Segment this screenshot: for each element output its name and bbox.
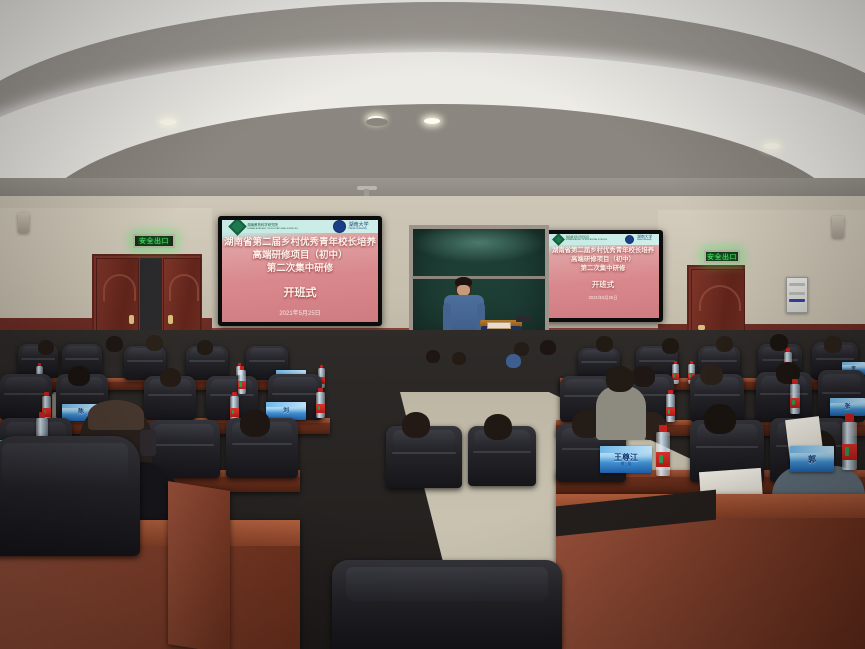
attendee-body — [596, 386, 646, 440]
conference-chair[interactable] — [0, 436, 140, 556]
attendee-head — [506, 354, 521, 368]
av-control-panel[interactable] — [786, 277, 808, 313]
attendee-head — [68, 366, 90, 386]
attendee-head — [402, 412, 430, 438]
institute-logo-text-en: HUNAN ACADEMY OF EDUCATIONAL SCIENCES — [247, 227, 297, 231]
attendee-head — [700, 364, 723, 385]
attendee-head — [197, 340, 213, 355]
attendee-head — [606, 366, 634, 392]
attendee-head — [484, 414, 512, 440]
laptop-icon[interactable] — [516, 316, 532, 322]
slide-title-line2: 高端研修项目（初中） — [547, 256, 659, 265]
slide-heading: 开班式 — [547, 279, 659, 290]
wall-speaker — [832, 216, 844, 238]
slide-title-line2: 高端研修项目（初中） — [222, 249, 378, 262]
water-bottle — [238, 370, 246, 394]
attendee-head — [160, 368, 181, 387]
downlight-icon — [764, 143, 780, 149]
attendee-head — [240, 410, 270, 437]
podium-nameplate — [487, 322, 511, 329]
secondary-projection-screen[interactable]: 湖南教育科学研究院 HUNAN ACADEMY OF EDUCATIONAL S… — [543, 230, 663, 322]
water-bottle — [790, 384, 800, 414]
chalkboard-glare — [412, 229, 546, 263]
slide-title-line1: 湖南省第二届乡村优秀青年校长培养 — [547, 247, 659, 256]
name-placard: 张 — [830, 398, 865, 416]
mobile-phone-icon — [140, 430, 156, 456]
placard-subtitle: 第二组 — [621, 462, 632, 466]
attendee-head — [662, 338, 679, 354]
attendee-head — [824, 336, 842, 353]
slide-title-line3: 第二次集中研修 — [547, 265, 659, 274]
speaker-head — [455, 277, 472, 297]
attendee-hair — [88, 400, 144, 430]
downlight-icon — [160, 119, 176, 125]
institute-logo: 湖南教育科学研究院 HUNAN ACADEMY OF EDUCATIONAL S… — [231, 220, 297, 233]
ceiling-vent-icon — [366, 118, 388, 126]
institute-logo: 湖南教育科学研究院 HUNAN ACADEMY OF EDUCATIONAL S… — [554, 235, 607, 244]
slide-title-line3: 第二次集中研修 — [222, 262, 378, 275]
water-bottle — [666, 394, 675, 422]
university-logo-text-en: Hunan University — [637, 239, 652, 242]
main-projection-screen[interactable]: 湖南教育科学研究院 HUNAN ACADEMY OF EDUCATIONAL S… — [218, 216, 382, 326]
water-bottle — [842, 422, 857, 470]
attendee-head — [146, 335, 163, 351]
water-bottle — [656, 432, 670, 476]
attendee-head — [632, 366, 655, 387]
hunan-normal-university-seal: 湖南大学 Hunan University — [625, 235, 652, 244]
water-bottle — [316, 392, 325, 418]
slide-heading: 开班式 — [222, 284, 378, 300]
name-placard: 王尊江 第二组 — [600, 446, 652, 473]
lecture-hall-photo: EPSON 安全出口 安全出口 — [0, 0, 865, 649]
attendee-head — [452, 352, 466, 365]
attendee-head — [426, 350, 440, 363]
attendee-head — [704, 404, 736, 434]
hunan-normal-university-seal: 湖南大学 Hunan University — [333, 220, 369, 233]
attendee-head — [540, 340, 556, 355]
slide-title-line1: 湖南省第二届乡村优秀青年校长培养 — [222, 236, 378, 249]
university-logo-text-en: Hunan University — [349, 227, 369, 231]
name-placard: 郭 — [790, 446, 834, 472]
wall-speaker — [18, 213, 29, 233]
institute-logo-text-en: HUNAN ACADEMY OF EDUCATIONAL SCIENCES — [566, 239, 607, 242]
slide-date: 2021年5月25日 — [547, 295, 659, 301]
attendee-head — [106, 336, 123, 352]
attendee-head — [38, 340, 54, 355]
attendee-head — [596, 336, 613, 352]
slide-date: 2021年5月25日 — [222, 308, 378, 317]
desk-end-panel — [168, 481, 230, 649]
conference-chair[interactable] — [332, 560, 562, 649]
chalkboard-divider — [412, 276, 546, 279]
placard-name: 郭 — [808, 455, 816, 464]
exit-sign-right: 安全出口 — [704, 250, 740, 263]
attendee-head — [716, 336, 733, 352]
placard-name: 王尊江 — [614, 453, 638, 462]
exit-sign-left: 安全出口 — [133, 234, 175, 248]
downlight-icon — [424, 118, 440, 124]
